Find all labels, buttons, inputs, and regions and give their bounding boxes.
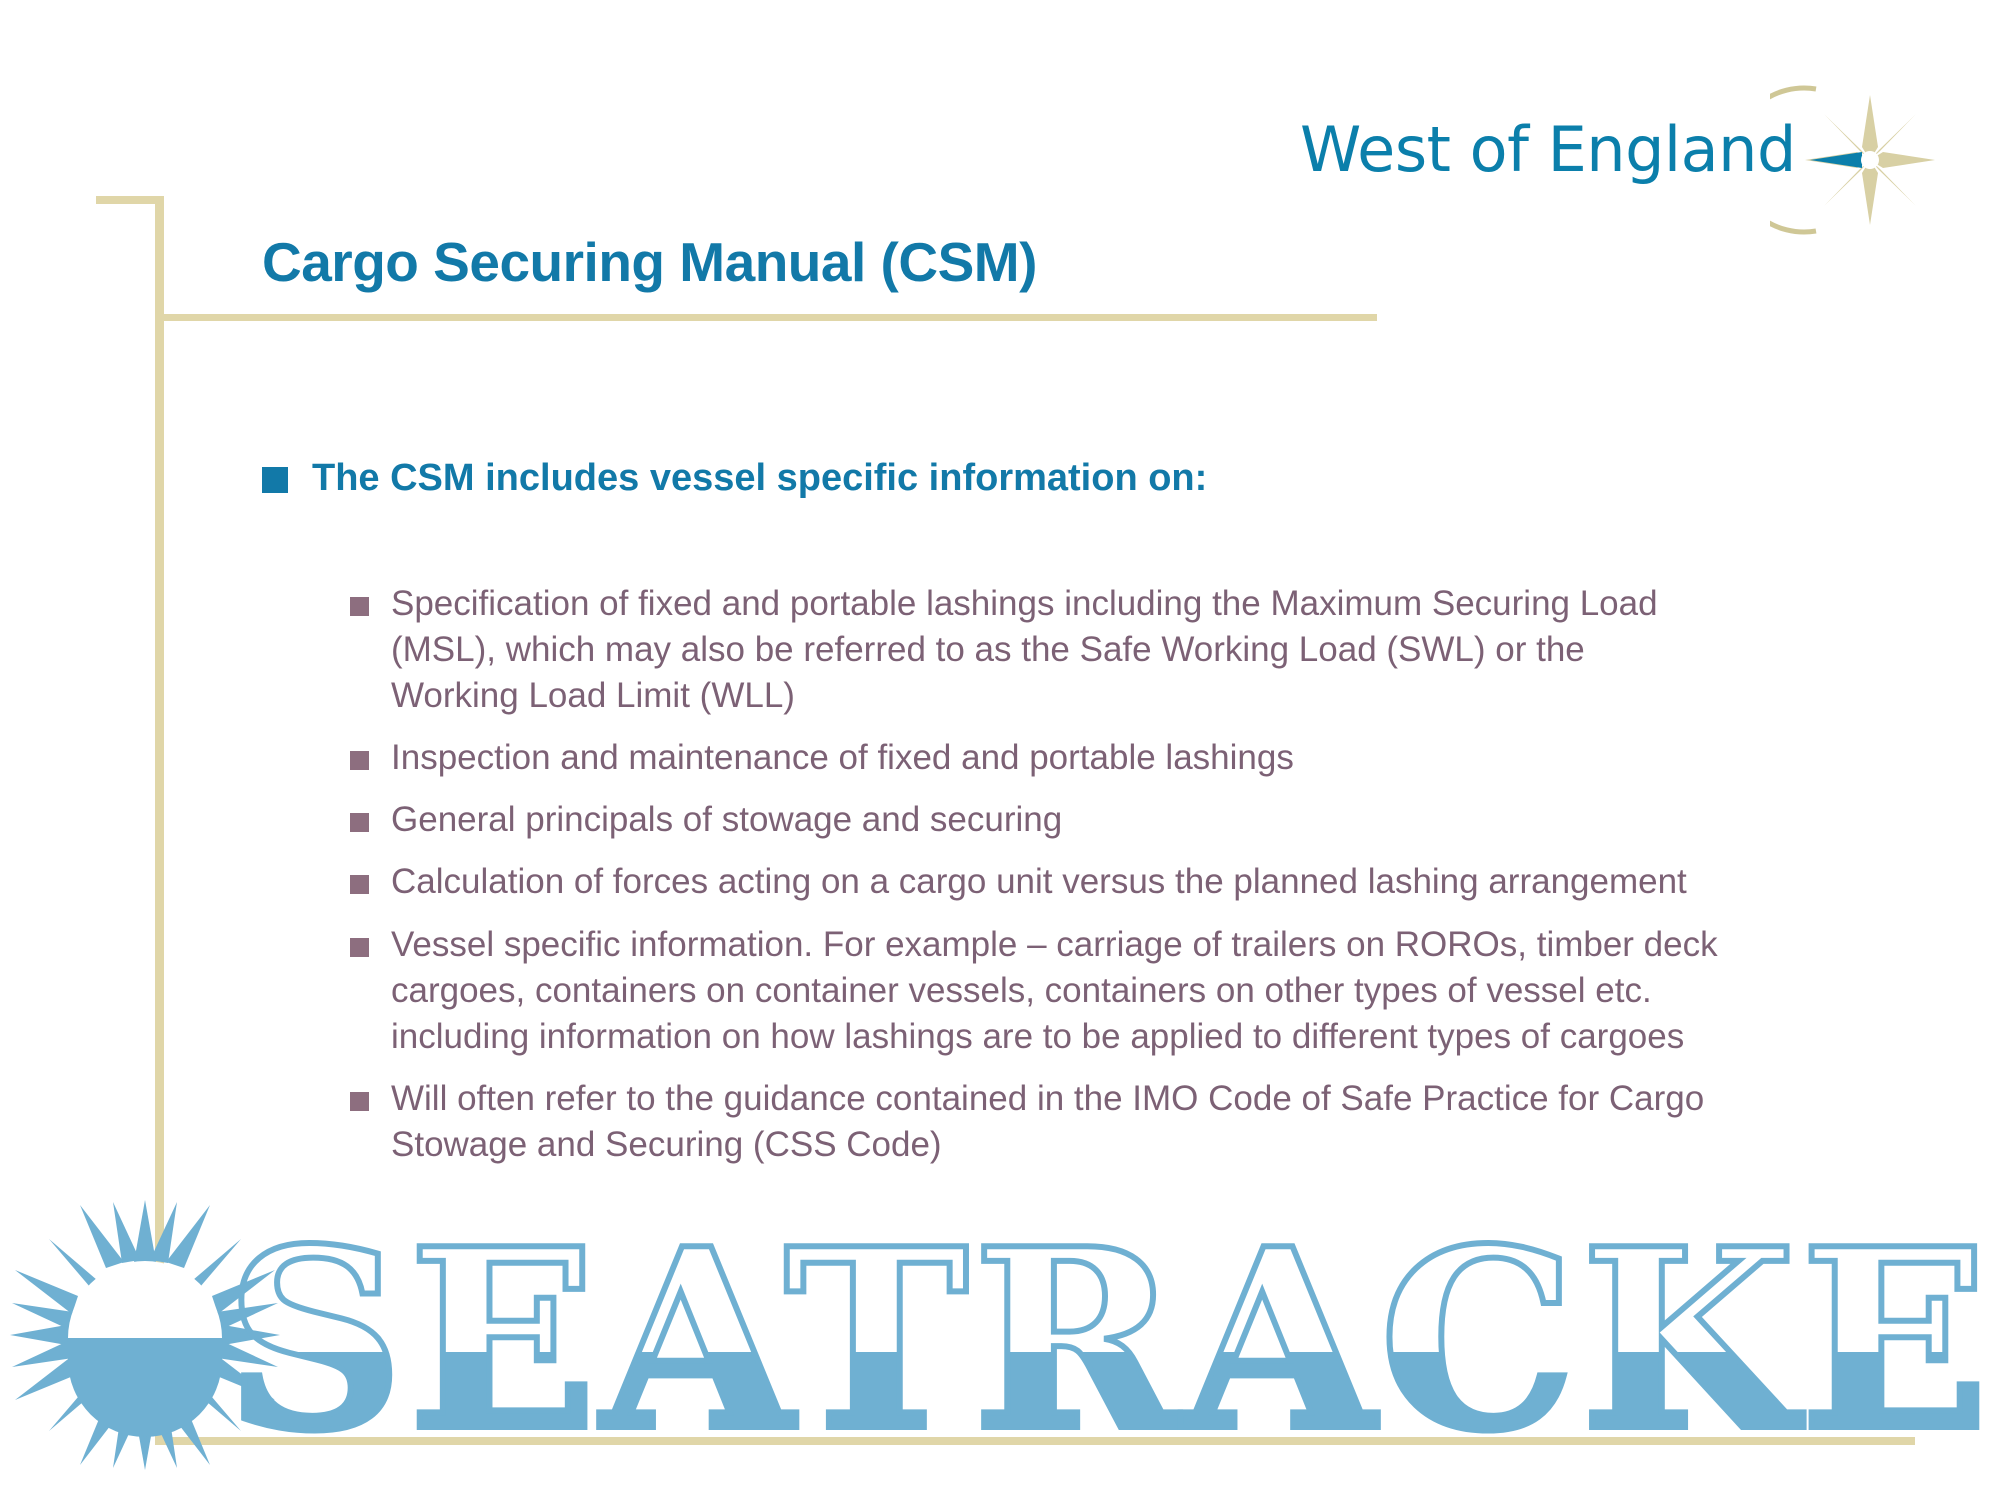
brand-logo-text: West of England [1300,113,1796,186]
list-item-label: Vessel specific information. For example… [391,922,1722,1061]
watermark-text: SEATRACKER.RU [225,1195,2000,1475]
list-item-label: Will often refer to the guidance contain… [391,1076,1722,1168]
frame-line-top [96,196,164,204]
list-item: Will often refer to the guidance contain… [350,1076,1722,1168]
list-item-label: Specification of fixed and portable lash… [391,581,1722,720]
square-bullet-icon [350,938,369,957]
square-bullet-icon [350,813,369,832]
lead-bullet: The CSM includes vessel specific informa… [262,455,1722,503]
list-item: Inspection and maintenance of fixed and … [350,735,1722,781]
square-bullet-icon [350,875,369,894]
list-item: General principals of stowage and securi… [350,797,1722,843]
square-bullet-icon [350,751,369,770]
list-item: Specification of fixed and portable lash… [350,581,1722,720]
lead-bullet-label: The CSM includes vessel specific informa… [312,455,1207,503]
brand-logo: West of England [1300,95,1940,225]
square-bullet-icon [350,597,369,616]
frame-line-bottom [155,1437,1915,1445]
compass-star-icon [1770,75,1940,245]
list-item: Vessel specific information. For example… [350,922,1722,1061]
title-divider [155,314,1377,321]
square-bullet-icon [262,467,288,493]
list-item-label: Calculation of forces acting on a cargo … [391,859,1687,905]
sun-over-sea-icon [10,1200,280,1470]
list-item: Calculation of forces acting on a cargo … [350,859,1722,905]
watermark: SEATRACKER.RU [0,1185,2000,1500]
svg-text:SEATRACKER.RU: SEATRACKER.RU [225,1195,2000,1475]
square-bullet-icon [350,1092,369,1111]
slide-body: The CSM includes vessel specific informa… [262,455,1722,1185]
list-item-label: Inspection and maintenance of fixed and … [391,735,1294,781]
sub-bullet-list: Specification of fixed and portable lash… [350,581,1722,1169]
page-title: Cargo Securing Manual (CSM) [262,230,1037,294]
frame-line-vertical [155,196,164,1444]
slide-canvas: West of England [0,0,2000,1500]
list-item-label: General principals of stowage and securi… [391,797,1062,843]
